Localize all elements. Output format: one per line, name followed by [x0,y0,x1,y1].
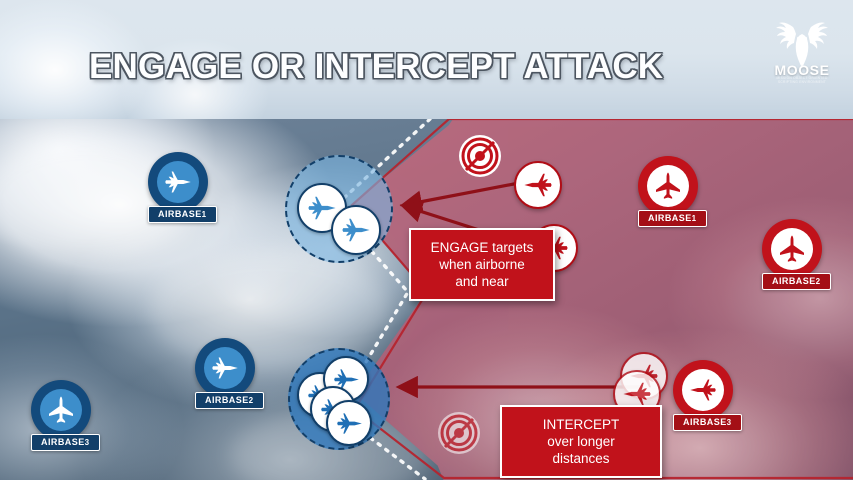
blue-airbase-1[interactable]: AIRBASE 1 [148,152,208,223]
callout-line-2: when airborne [421,256,543,273]
jet-side-icon [688,375,718,405]
jet-side-icon [340,214,372,246]
blue-flight-group-lower[interactable] [288,348,390,450]
red-airbase-2[interactable]: AIRBASE 2 [762,219,822,290]
blue-airbase-2[interactable]: AIRBASE 2 [195,338,255,409]
page-title: ENGAGE OR INTERCEPT ATTACK [89,47,663,87]
airbase-label-text: AIRBASE [41,437,85,447]
airbase-inner [771,228,813,270]
target-radar-upper[interactable] [458,134,502,178]
airbase-disc [31,380,91,440]
jet-top-icon [46,395,76,425]
airbase-label: AIRBASE 2 [195,392,264,409]
airbase-label-text: AIRBASE [205,395,249,405]
airbase-label-number: 2 [816,277,821,286]
slide-canvas: ENGAGE OR INTERCEPT ATTACK MOOSE MISSION… [0,0,853,480]
airbase-inner [40,389,82,431]
jet-top-icon [777,234,807,264]
airbase-label-number: 1 [202,210,207,219]
moose-logo-subtitle: MISSION OBJECT ORIENTED SCRIPTING ENVIRO… [767,76,837,84]
callout-line-2: over longer [512,433,650,450]
target-radar-lower[interactable] [437,411,481,455]
jet-side-icon [163,167,193,197]
airbase-inner [682,369,724,411]
airbase-label-text: AIRBASE [772,276,816,286]
callout-line-3: distances [512,450,650,467]
airbase-disc [195,338,255,398]
airbase-label: AIRBASE 3 [673,414,742,431]
airbase-label: AIRBASE 1 [148,206,217,223]
jet-top-icon [653,171,683,201]
airbase-inner [647,165,689,207]
airbase-inner [157,161,199,203]
callout-intercept: INTERCEPT over longer distances [500,405,662,478]
airbase-disc [148,152,208,212]
airbase-label-text: AIRBASE [683,417,727,427]
blue-airbase-3[interactable]: AIRBASE 3 [31,380,91,451]
airbase-label-number: 1 [692,214,697,223]
airbase-label-number: 3 [727,418,732,427]
airbase-inner [204,347,246,389]
callout-line-1: ENGAGE targets [421,239,543,256]
airbase-label: AIRBASE 1 [638,210,707,227]
jet-left-icon [522,169,554,201]
airbase-disc [638,156,698,216]
jet-side-icon [335,409,364,438]
enemy-aircraft-upper-1[interactable] [514,161,562,209]
callout-engage: ENGAGE targets when airborne and near [409,228,555,301]
airbase-label-number: 3 [85,438,90,447]
flight-jet-badge[interactable] [331,205,381,255]
airbase-disc [673,360,733,420]
airbase-label-text: AIRBASE [158,209,202,219]
airbase-label: AIRBASE 2 [762,273,831,290]
airbase-disc [762,219,822,279]
airbase-label-number: 2 [249,396,254,405]
airbase-label-text: AIRBASE [648,213,692,223]
callout-line-3: and near [421,273,543,290]
callout-line-1: INTERCEPT [512,416,650,433]
flight-jet-badge[interactable] [326,400,372,446]
jet-side-icon [210,353,240,383]
airbase-label: AIRBASE 3 [31,434,100,451]
red-airbase-1[interactable]: AIRBASE 1 [638,156,698,227]
red-airbase-3[interactable]: AIRBASE 3 [673,360,733,431]
blue-flight-group-upper[interactable] [285,155,393,263]
